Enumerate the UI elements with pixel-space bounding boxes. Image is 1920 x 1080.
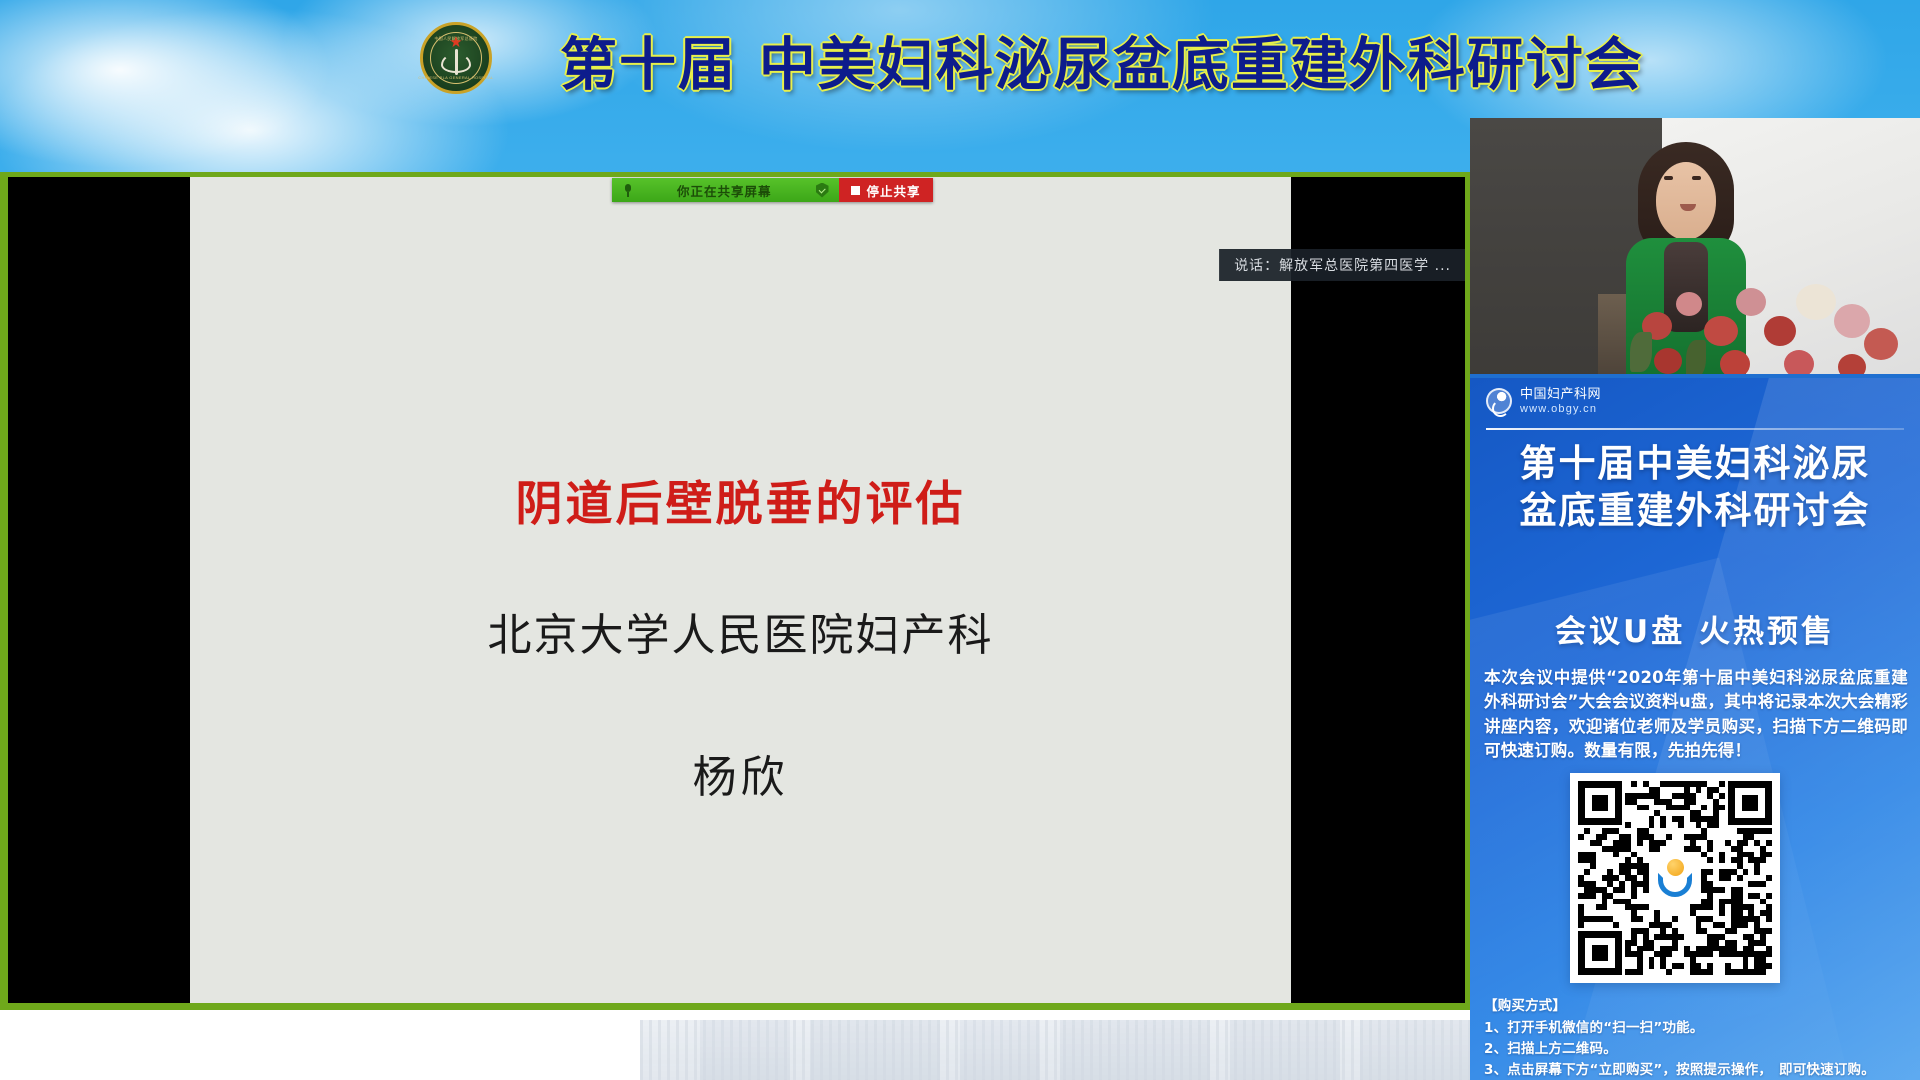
sharing-status-label: 你正在共享屏幕 [677, 181, 772, 200]
promo-panel: 中国妇产科网 www.obgy.cn 第十届中美妇科泌尿 盆底重建外科研讨会 会… [1470, 378, 1920, 1080]
promo-divider [1486, 428, 1904, 430]
presenter-eye-right [1692, 176, 1701, 180]
microphone-icon[interactable] [624, 184, 633, 197]
promo-subtitle: 会议U盘 火热预售 [1470, 606, 1920, 651]
qr-finder-top-right [1728, 781, 1772, 825]
screen-share-frame: 阴道后壁脱垂的评估 北京大学人民医院妇产科 杨欣 人 北京大学人民医院 PEKI… [0, 172, 1470, 1010]
promo-title-line1: 第十届中美妇科泌尿 [1470, 440, 1920, 487]
qr-finder-bottom-left [1578, 931, 1622, 975]
video-flower-arrangement [1624, 258, 1920, 380]
screen-share-viewport: 阴道后壁脱垂的评估 北京大学人民医院妇产科 杨欣 人 北京大学人民医院 PEKI… [8, 177, 1465, 1003]
speaker-video-tile[interactable] [1470, 118, 1920, 380]
screen-share-toolbar[interactable]: 你正在共享屏幕 停止共享 [612, 178, 933, 202]
buy-step: 2、扫描上方二维码。 [1484, 1039, 1910, 1060]
sharing-status-group: 你正在共享屏幕 [612, 178, 839, 202]
stop-square-icon [851, 186, 860, 195]
stop-share-button[interactable]: 停止共享 [839, 178, 933, 202]
buy-step: 3、点击屏幕下方“立即购买”，按照提示操作， 即可快速订购。 [1484, 1060, 1910, 1080]
wing-icon [441, 53, 471, 73]
shield-check-icon[interactable] [816, 183, 829, 198]
obgy-logo-icon [1486, 388, 1512, 414]
presenter-eye-left [1664, 176, 1673, 180]
buy-heading: 【购买方式】 [1484, 996, 1910, 1017]
promo-description: 本次会议中提供“2020年第十届中美妇科泌尿盆底重建外科研讨会”大会会议资料u盘… [1484, 666, 1908, 764]
pla-hospital-emblem-icon: 中国人民解放军总医院 ★ CHINESE PLA GENERAL HOSPITA… [420, 22, 492, 94]
presentation-slide: 阴道后壁脱垂的评估 北京大学人民医院妇产科 杨欣 人 北京大学人民医院 PEKI… [190, 177, 1291, 1003]
active-speaker-chip: 说话：解放军总医院第四医学 ... [1219, 249, 1465, 281]
promo-qr-code[interactable] [1570, 773, 1780, 983]
banner-title: 第十届 中美妇科泌尿盆底重建外科研讨会 [560, 22, 1620, 98]
qr-center-logo-icon [1649, 852, 1701, 904]
slide-speaker-name: 杨欣 [190, 741, 1291, 805]
star-icon: ★ [449, 35, 462, 50]
slide-organization: 北京大学人民医院妇产科 [190, 599, 1291, 663]
promo-site-branding: 中国妇产科网 www.obgy.cn [1486, 388, 1601, 415]
buy-step: 1、打开手机微信的“扫一扫”功能。 [1484, 1018, 1910, 1039]
right-sidebar: 中国妇产科网 www.obgy.cn 第十届中美妇科泌尿 盆底重建外科研讨会 会… [1470, 0, 1920, 1080]
promo-purchase-instructions: 【购买方式】 1、打开手机微信的“扫一扫”功能。 2、扫描上方二维码。 3、点击… [1484, 996, 1910, 1080]
qr-finder-top-left [1578, 781, 1622, 825]
promo-site-name: 中国妇产科网 [1520, 388, 1601, 403]
stop-share-label: 停止共享 [867, 181, 921, 200]
emblem-bottom-text: CHINESE PLA GENERAL HOSPITAL [418, 75, 493, 80]
promo-site-url: www.obgy.cn [1520, 403, 1601, 415]
promo-title-line2: 盆底重建外科研讨会 [1470, 487, 1920, 534]
qr-code-canvas [1578, 781, 1772, 975]
presenter-face [1656, 162, 1716, 240]
slide-title: 阴道后壁脱垂的评估 [190, 465, 1291, 534]
promo-title: 第十届中美妇科泌尿 盆底重建外科研讨会 [1470, 440, 1920, 535]
